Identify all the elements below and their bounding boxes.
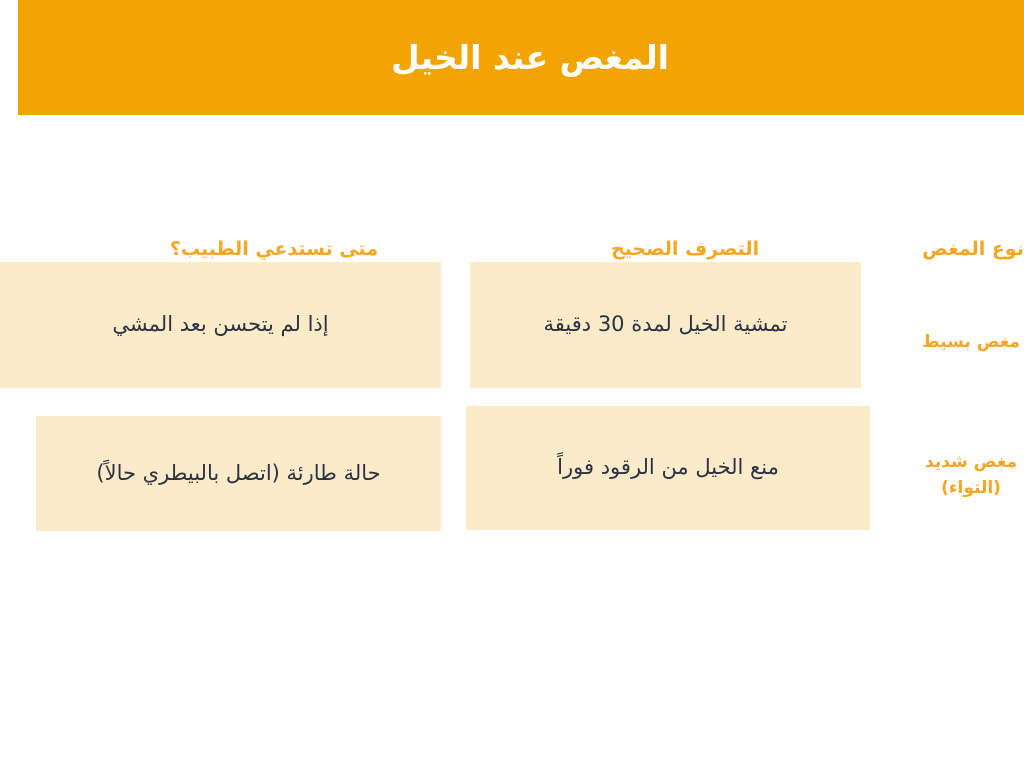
- page-title: المغص عند الخيل: [373, 38, 651, 78]
- row-label-line-2: (التواء): [923, 475, 983, 501]
- page-header-band: المغص عند الخيل: [0, 0, 1024, 115]
- cell-action-simple-colic: تمشية الخيل لمدة 30 دقيقة: [452, 262, 843, 388]
- table-row: مغص بسيط تمشية الخيل لمدة 30 دقيقة إذا ل…: [0, 273, 1024, 409]
- row-label-line-1: مغص شديد: [907, 449, 999, 475]
- row-label-line-1: مغص بسيط: [904, 329, 1002, 355]
- row-label-simple-colic: مغص بسيط: [852, 273, 1024, 409]
- content-area: نوع المغص التصرف الصحيح متى تستدعي الطبي…: [0, 115, 1024, 768]
- colic-comparison-table: نوع المغص التصرف الصحيح متى تستدعي الطبي…: [0, 225, 1024, 541]
- column-header-type: نوع المغص: [852, 225, 1024, 273]
- cell-action-severe-colic: منع الخيل من الرقود فوراً: [448, 406, 852, 530]
- cell-when-severe-colic: حالة طارئة (اتصل بالبيطري حالاً): [18, 416, 423, 531]
- cell-when-simple-colic: إذا لم يتحسن بعد المشي: [0, 262, 423, 388]
- row-label-severe-colic: مغص شديد (التواء): [852, 409, 1024, 541]
- table-row: مغص شديد (التواء) منع الخيل من الرقود فو…: [0, 409, 1024, 541]
